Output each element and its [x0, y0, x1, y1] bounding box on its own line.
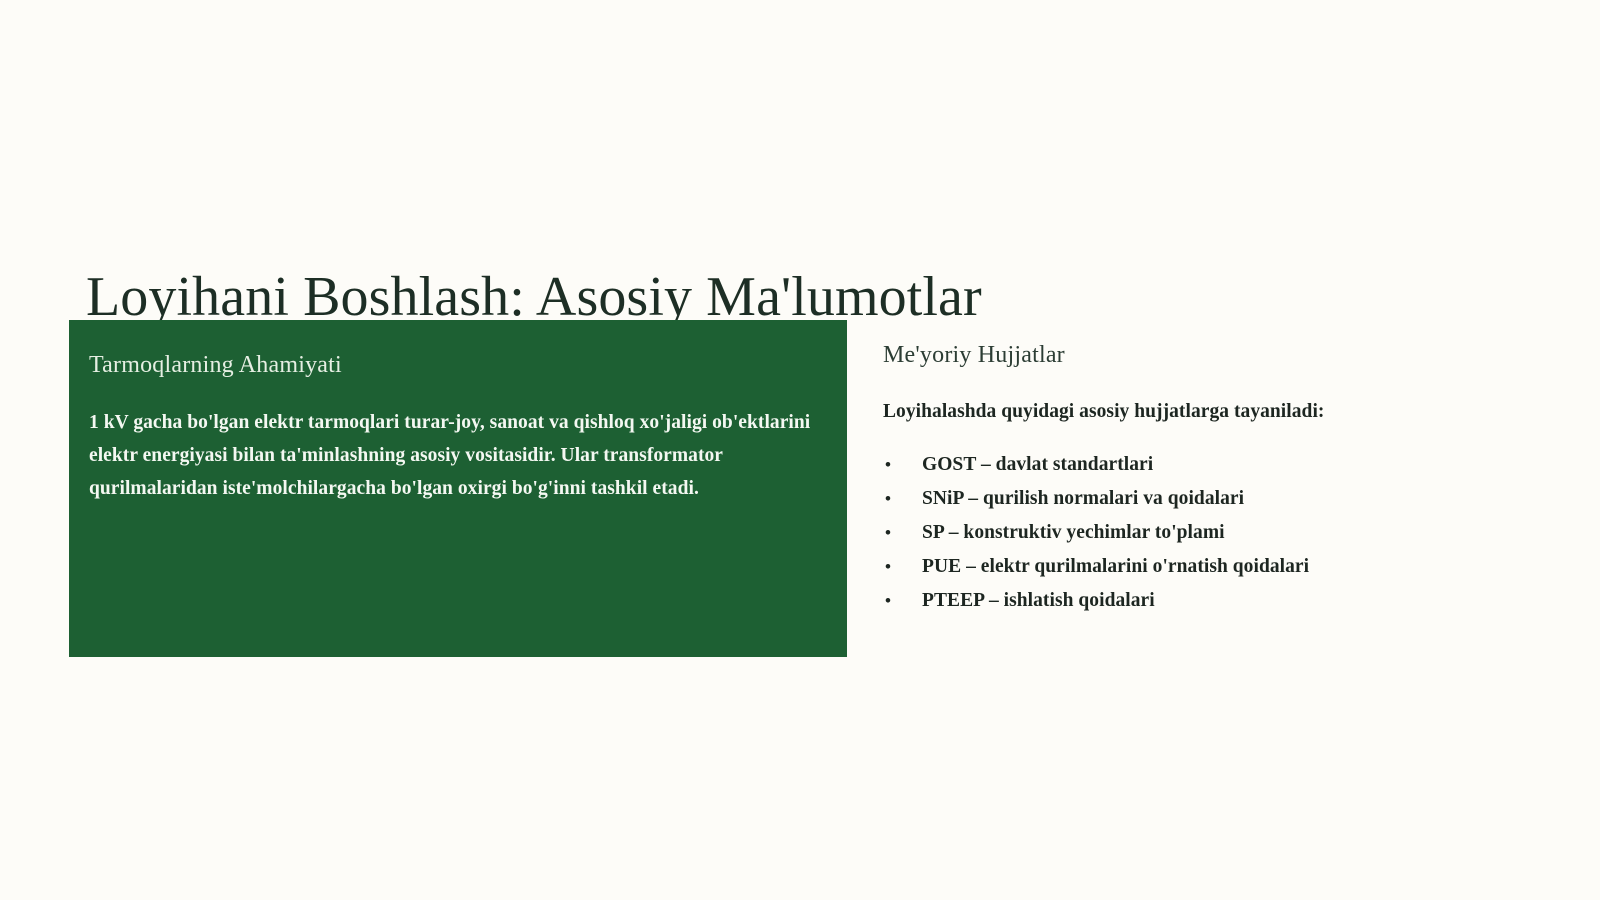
importance-card-body: 1 kV gacha bo'lgan elektr tarmoqlari tur…: [89, 406, 811, 505]
content-columns: Tarmoqlarning Ahamiyati 1 kV gacha bo'lg…: [0, 320, 1600, 740]
list-item-label: SNiP – qurilish normalari va qoidalari: [922, 488, 1244, 509]
list-item: • PUE – elektr qurilmalarini o'rnatish q…: [883, 550, 1523, 584]
bullet-icon: •: [885, 516, 895, 550]
importance-card-heading: Tarmoqlarning Ahamiyati: [89, 350, 811, 380]
page-title: Loyihani Boshlash: Asosiy Ma'lumotlar: [86, 266, 1486, 329]
list-item: • PTEEP – ishlatish qoidalari: [883, 584, 1523, 618]
importance-card: Tarmoqlarning Ahamiyati 1 kV gacha bo'lg…: [69, 320, 847, 657]
bullet-icon: •: [885, 482, 895, 516]
bullet-icon: •: [885, 584, 895, 618]
normative-documents-intro: Loyihalashda quyidagi asosiy hujjatlarga…: [883, 398, 1523, 426]
list-item-label: PTEEP – ishlatish qoidalari: [922, 590, 1155, 611]
normative-documents-heading: Me'yoriy Hujjatlar: [883, 340, 1523, 370]
bullet-icon: •: [885, 550, 895, 584]
list-item: • SP – konstruktiv yechimlar to'plami: [883, 516, 1523, 550]
list-item-label: SP – konstruktiv yechimlar to'plami: [922, 522, 1225, 543]
list-item-label: PUE – elektr qurilmalarini o'rnatish qoi…: [922, 556, 1309, 577]
list-item-label: GOST – davlat standartlari: [922, 454, 1153, 475]
list-item: • GOST – davlat standartlari: [883, 448, 1523, 482]
normative-documents-list: • GOST – davlat standartlari • SNiP – qu…: [883, 448, 1523, 618]
list-item: • SNiP – qurilish normalari va qoidalari: [883, 482, 1523, 516]
slide-root: Loyihani Boshlash: Asosiy Ma'lumotlar Ta…: [0, 0, 1600, 900]
normative-documents-section: Me'yoriy Hujjatlar Loyihalashda quyidagi…: [883, 340, 1523, 618]
bullet-icon: •: [885, 448, 895, 482]
